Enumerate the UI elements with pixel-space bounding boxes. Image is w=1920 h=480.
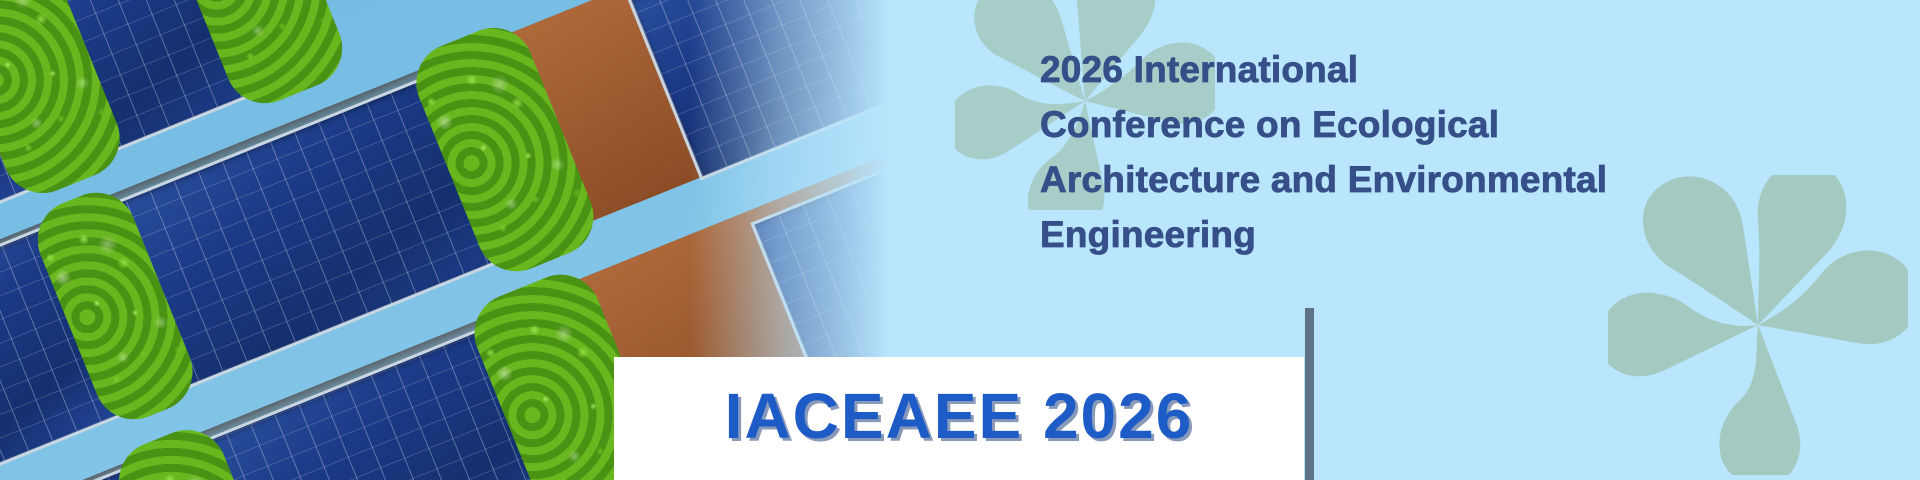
acronym-label: IACEAEE 2026 — [614, 357, 1304, 480]
conference-title: 2026 International Conference on Ecologi… — [1040, 42, 1880, 262]
title-line-2: Conference on Ecological — [1040, 97, 1880, 152]
title-line-3: Architecture and Environmental — [1040, 152, 1880, 207]
conference-banner: 2026 International Conference on Ecologi… — [0, 0, 1920, 480]
acronym-accent-bar — [1305, 308, 1314, 480]
title-line-1: 2026 International — [1040, 42, 1880, 97]
acronym-box: IACEAEE 2026 — [614, 357, 1304, 480]
title-line-4: Engineering — [1040, 207, 1880, 262]
